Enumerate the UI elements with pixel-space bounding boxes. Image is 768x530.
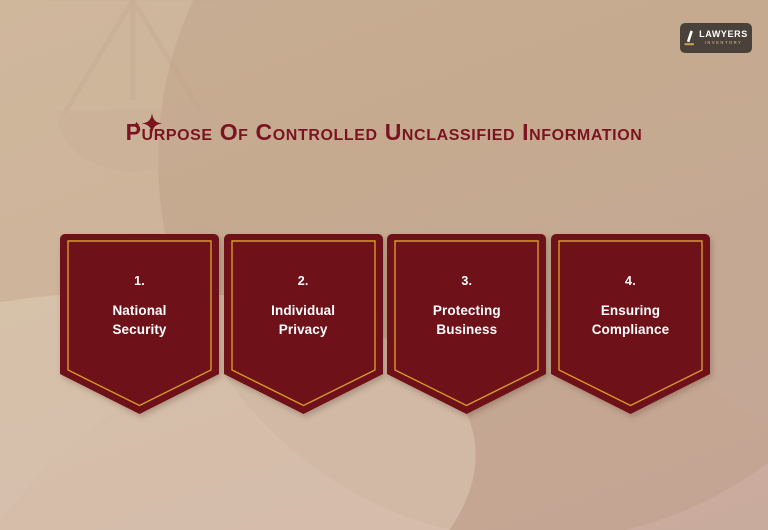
purpose-card-label: Individual Privacy <box>261 301 345 339</box>
purpose-card-list: 1. National Security 2. Individual Priva… <box>60 234 710 414</box>
slide-canvas: LAWYERS INVENTORY Purpose Of Controlled … <box>0 0 768 530</box>
purpose-card-number: 2. <box>298 274 309 288</box>
sparkle-icon <box>130 111 164 145</box>
page-title: Purpose Of Controlled Unclassified Infor… <box>124 118 644 146</box>
brand-logo[interactable]: LAWYERS INVENTORY <box>680 23 752 53</box>
purpose-card-number: 4. <box>625 274 636 288</box>
purpose-card-number: 3. <box>461 274 472 288</box>
purpose-card-number: 1. <box>134 274 145 288</box>
purpose-card-label: National Security <box>102 301 176 339</box>
gavel-icon <box>684 30 695 46</box>
purpose-card-4[interactable]: 4. Ensuring Compliance <box>551 234 710 414</box>
purpose-card-content: 3. Protecting Business <box>387 234 546 414</box>
purpose-card-1[interactable]: 1. National Security <box>60 234 219 414</box>
purpose-card-3[interactable]: 3. Protecting Business <box>387 234 546 414</box>
purpose-card-2[interactable]: 2. Individual Privacy <box>224 234 383 414</box>
purpose-card-label: Ensuring Compliance <box>582 301 680 339</box>
logo-subtitle: INVENTORY <box>705 41 743 45</box>
purpose-card-content: 2. Individual Privacy <box>224 234 383 414</box>
purpose-card-label: Protecting Business <box>423 301 511 339</box>
logo-name: LAWYERS <box>699 30 748 39</box>
heading-block: Purpose Of Controlled Unclassified Infor… <box>0 118 768 146</box>
purpose-card-content: 4. Ensuring Compliance <box>551 234 710 414</box>
purpose-card-content: 1. National Security <box>60 234 219 414</box>
logo-text-block: LAWYERS INVENTORY <box>699 30 748 45</box>
